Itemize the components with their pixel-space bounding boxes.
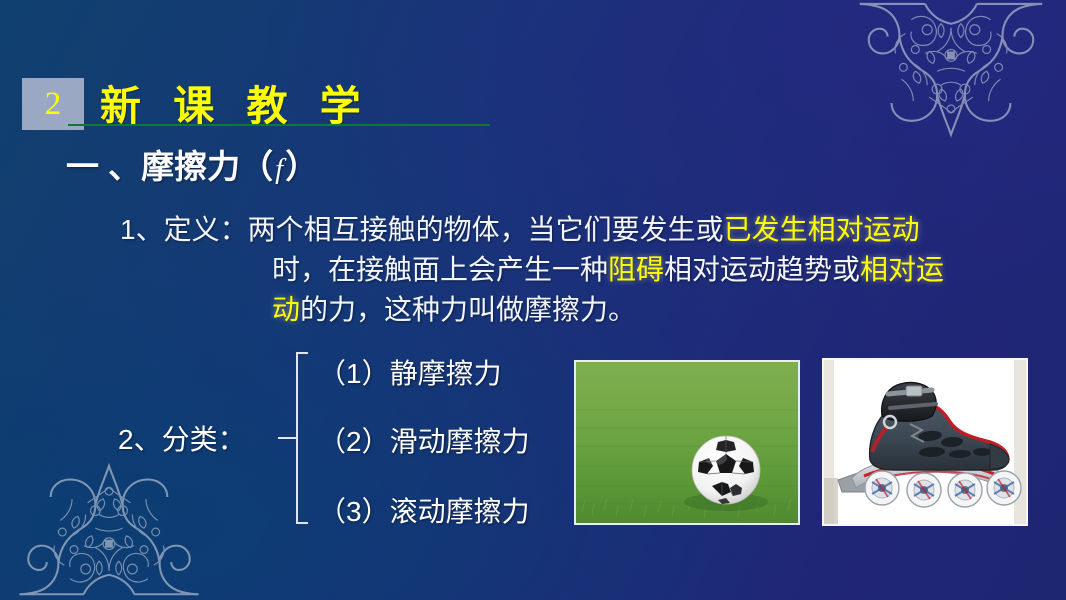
definition-line-3-text: 动的力，这种力叫做摩擦力。 [272, 294, 636, 325]
definition-line-3: 动的力，这种力叫做摩擦力。 [120, 290, 1050, 330]
classification-item-rolling-friction: （3）滚动摩擦力 [318, 490, 530, 530]
definition-plain-text: 时，在接触面上会产生一种 [272, 254, 608, 285]
classification-brace [286, 352, 308, 524]
definition-plain-text: 两个相互接触的物体，当它们要发生或 [248, 214, 724, 245]
inline-roller-skate-image [822, 358, 1028, 526]
page-title: 新 课 教 学 [100, 72, 372, 132]
section-heading: 一 、摩擦力（f） [66, 140, 318, 188]
title-underline-rule [68, 124, 490, 126]
definition-line-1: 1、定义：两个相互接触的物体，当它们要发生或已发生相对运动 [120, 210, 1050, 250]
section-number-badge: 2 [22, 78, 84, 130]
definition-plain-text: 的力，这种力叫做摩擦力。 [300, 294, 636, 325]
floral-arabesque-ornament-icon [2, 454, 216, 600]
classification-item-static-friction: （1）静摩擦力 [318, 352, 502, 392]
section-heading-prefix: 一 、摩擦力（ [66, 148, 273, 185]
definition-highlight-text: 相对运 [860, 254, 944, 285]
definition-line-1-text: 两个相互接触的物体，当它们要发生或已发生相对运动 [248, 214, 920, 245]
definition-plain-text: 相对运动趋势或 [664, 254, 860, 285]
floral-arabesque-ornament-icon [842, 0, 1060, 146]
soccer-ball-on-grass-image [574, 360, 800, 525]
definition-highlight-text: 已发生相对运动 [724, 214, 920, 245]
definition-highlight-text: 动 [272, 294, 300, 325]
classification-label: 2、分类： [118, 418, 246, 458]
classification-item-sliding-friction: （2）滑动摩擦力 [318, 420, 530, 460]
presentation-slide: 2 新 课 教 学 一 、摩擦力（f） 1、定义：两个相互接触的物体，当它们要发… [0, 0, 1066, 600]
definition-label: 1、定义： [120, 214, 248, 245]
definition-highlight-text: 阻碍 [608, 254, 664, 285]
definition-line-2-text: 时，在接触面上会产生一种阻碍相对运动趋势或相对运 [272, 254, 944, 285]
friction-symbol: f [273, 153, 285, 185]
section-heading-suffix: ） [285, 148, 318, 185]
definition-block: 1、定义：两个相互接触的物体，当它们要发生或已发生相对运动 时，在接触面上会产生… [120, 210, 1050, 330]
definition-line-2: 时，在接触面上会产生一种阻碍相对运动趋势或相对运 [120, 250, 1050, 290]
section-number: 2 [45, 88, 62, 121]
